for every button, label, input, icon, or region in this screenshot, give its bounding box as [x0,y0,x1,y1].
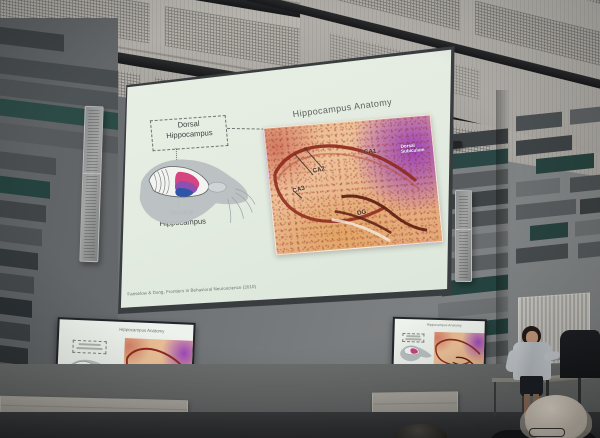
right-monitor-rat-diagram [398,343,435,364]
rat-head-diagram [130,147,257,235]
dorsal-label-line2: Hippocampus [166,128,213,140]
left-monitor-title: Hippocampus Anatomy [119,327,164,334]
micrograph-inset-label: Dorsal Subiculum [400,142,424,154]
slide-credit: Fanselow & Dong, Frontiers in Behavioral… [127,278,357,297]
presenter-skirt [520,376,543,396]
lecture-hall-photo: Hippocampus Anatomy Dorsal Hippocampus V… [0,0,600,438]
slide: Hippocampus Anatomy Dorsal Hippocampus V… [113,48,456,310]
micrograph-label-ca1: CA1 [364,148,377,156]
seated-person-right [560,330,600,378]
presenter-jacket [513,342,551,380]
audience-glasses [529,428,565,437]
right-monitor-title: Hippocampus Anatomy [427,323,462,328]
wall-speaker-right [455,190,472,282]
projection-screen: Hippocampus Anatomy Dorsal Hippocampus V… [113,48,456,310]
hippocampus-micrograph: CA1 CA2 CA3 DG Dorsal Subiculum [263,114,443,255]
dorsal-label-line1: Dorsal [177,119,200,130]
